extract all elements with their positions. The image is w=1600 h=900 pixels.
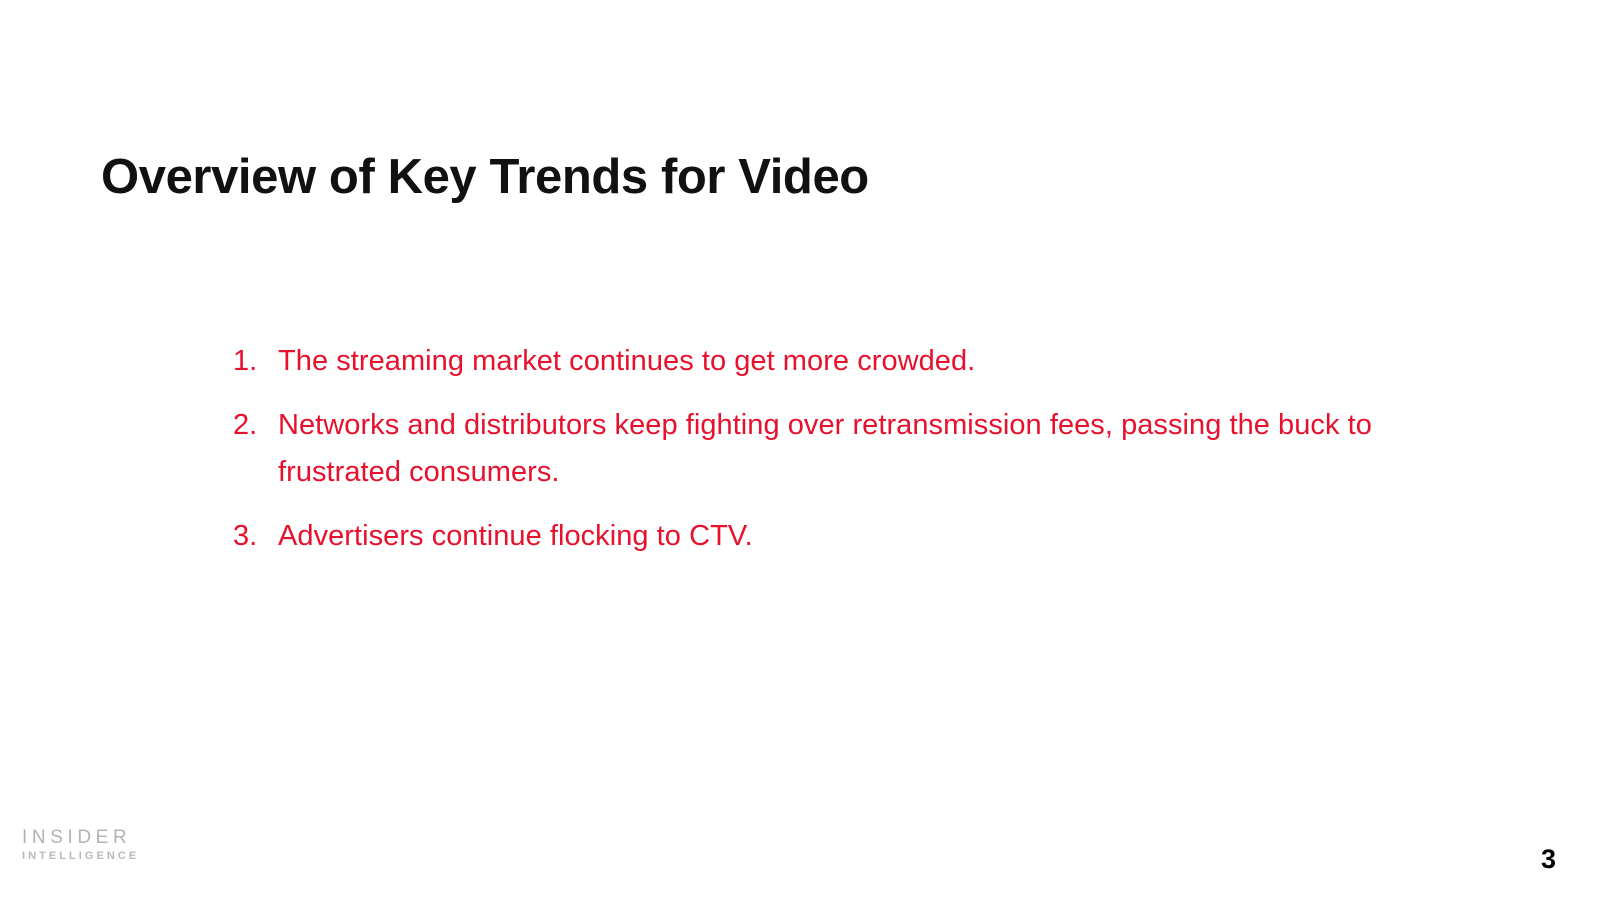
list-item: 1. The streaming market continues to get… bbox=[233, 338, 1423, 385]
insider-intelligence-logo: INSIDER INTELLIGENCE bbox=[22, 828, 139, 862]
list-item-marker: 1. bbox=[233, 338, 278, 385]
list-item-marker: 3. bbox=[233, 513, 278, 560]
list-item-text: The streaming market continues to get mo… bbox=[278, 338, 1423, 385]
key-trends-list: 1. The streaming market continues to get… bbox=[193, 338, 1423, 560]
page-title: Overview of Key Trends for Video bbox=[101, 149, 869, 205]
list-item-text: Advertisers continue flocking to CTV. bbox=[278, 513, 1423, 560]
list-item-text: Networks and distributors keep fighting … bbox=[278, 402, 1423, 496]
list-item: 2. Networks and distributors keep fighti… bbox=[233, 402, 1423, 496]
list-item-marker: 2. bbox=[233, 402, 278, 449]
list-item: 3. Advertisers continue flocking to CTV. bbox=[233, 513, 1423, 560]
logo-primary-text: INSIDER bbox=[22, 828, 139, 847]
logo-secondary-text: INTELLIGENCE bbox=[22, 851, 139, 862]
page-number: 3 bbox=[1541, 846, 1556, 873]
slide-canvas: Overview of Key Trends for Video 1. The … bbox=[0, 0, 1600, 900]
